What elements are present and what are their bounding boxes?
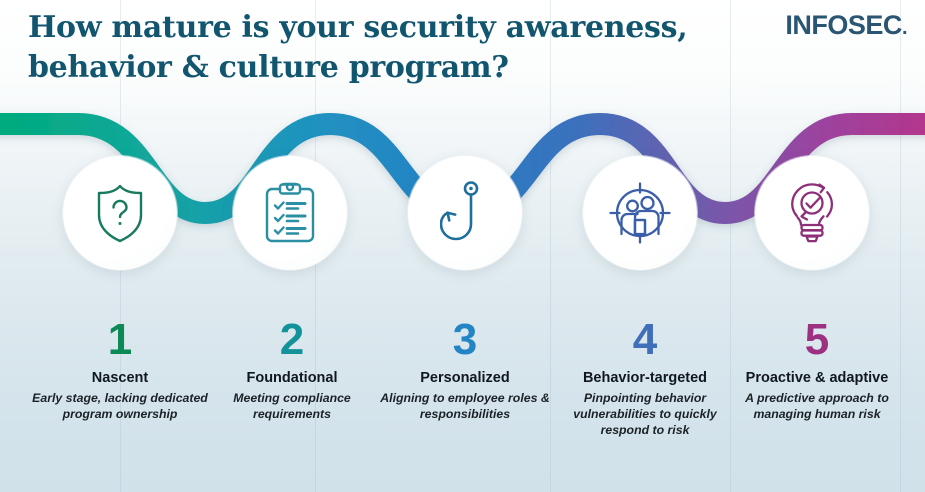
step-description-1: Early stage, lacking dedicated program o… <box>8 391 232 423</box>
infosec-logo: INFOSEC. <box>785 10 907 41</box>
step-number-3: 3 <box>372 318 558 362</box>
step-label-2: Foundational <box>202 370 382 387</box>
logo-period: . <box>902 17 907 39</box>
step-circle-1[interactable] <box>63 156 177 270</box>
step-label-4: Behavior-targeted <box>552 370 738 387</box>
steps-list: 1 Nascent Early stage, lacking dedicated… <box>0 318 925 478</box>
step-number-1: 1 <box>8 318 232 362</box>
lightbulb-check-refresh-icon <box>783 180 841 246</box>
step-circle-2[interactable] <box>233 156 347 270</box>
page-title: How mature is your security awareness, b… <box>28 8 728 88</box>
title-line-1: How mature is your security awareness, <box>28 10 687 45</box>
shield-question-icon <box>90 182 150 244</box>
step-label-3: Personalized <box>372 370 558 387</box>
step-item-5: 5 Proactive & adaptive A predictive appr… <box>727 318 907 423</box>
step-description-2: Meeting compliance requirements <box>202 391 382 423</box>
step-number-4: 4 <box>552 318 738 362</box>
step-item-2: 2 Foundational Meeting compliance requir… <box>202 318 382 423</box>
step-description-3: Aligning to employee roles & responsibil… <box>372 391 558 423</box>
step-circle-3[interactable] <box>408 156 522 270</box>
step-number-2: 2 <box>202 318 382 362</box>
step-item-4: 4 Behavior-targeted Pinpointing behavior… <box>552 318 738 439</box>
step-description-4: Pinpointing behavior vulnerabilities to … <box>552 391 738 439</box>
step-description-5: A predictive approach to managing human … <box>727 391 907 423</box>
phishing-hook-icon <box>440 180 490 246</box>
step-item-3: 3 Personalized Aligning to employee role… <box>372 318 558 423</box>
logo-wordmark: INFOSEC <box>785 10 902 40</box>
clipboard-checklist-icon <box>261 181 319 245</box>
target-people-icon <box>609 182 671 244</box>
step-circle-5[interactable] <box>755 156 869 270</box>
title-line-2: behavior & culture program? <box>28 48 728 88</box>
step-circle-4[interactable] <box>583 156 697 270</box>
step-label-5: Proactive & adaptive <box>727 370 907 387</box>
infographic-canvas: How mature is your security awareness, b… <box>0 0 925 492</box>
step-item-1: 1 Nascent Early stage, lacking dedicated… <box>8 318 232 423</box>
step-number-5: 5 <box>727 318 907 362</box>
step-label-1: Nascent <box>8 370 232 387</box>
